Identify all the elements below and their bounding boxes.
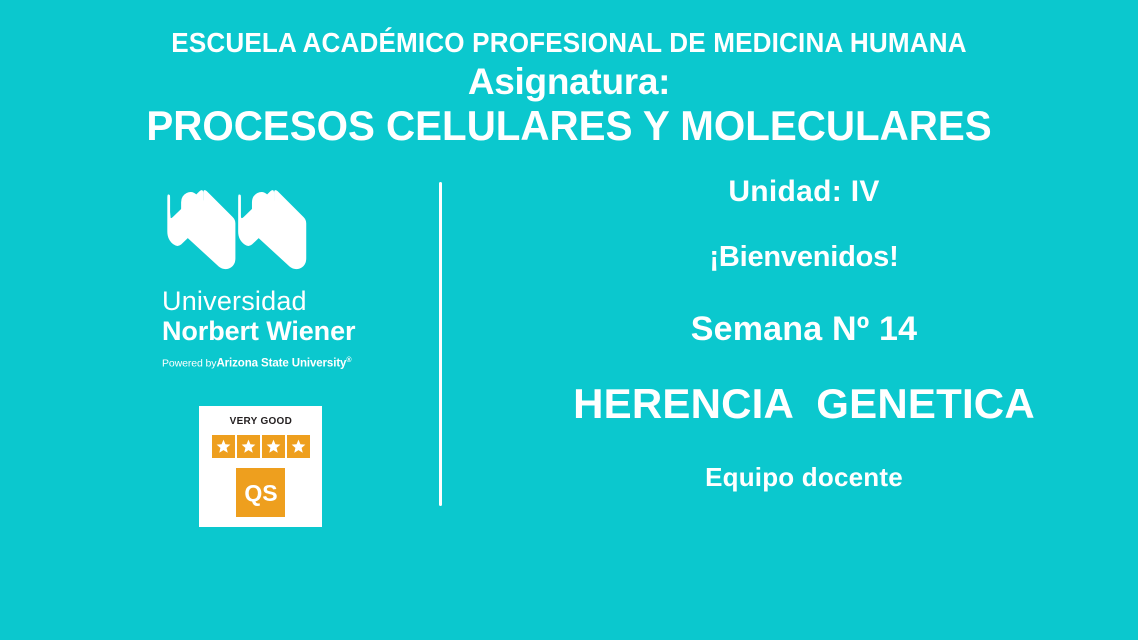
qs-logo-icon: QS: [236, 468, 285, 517]
powered-by-brand: Arizona State University: [216, 358, 346, 370]
powered-by-prefix: Powered by: [162, 358, 216, 370]
course-title: PROCESOS CELULARES Y MOLECULARES: [23, 103, 1115, 149]
university-name-line1: Universidad: [162, 286, 400, 316]
welcome-label: ¡Bienvenidos!: [470, 241, 1138, 274]
qs-rating-badge: VERY GOOD QS: [199, 406, 322, 527]
university-name-line2: Norbert Wiener: [162, 316, 400, 346]
vertical-divider: [439, 182, 442, 506]
qs-star-row: [212, 435, 310, 458]
wiener-w-mark-icon: [160, 182, 320, 274]
star-icon: [212, 435, 235, 458]
teaching-team-label: Equipo docente: [470, 462, 1138, 493]
unit-label: Unidad: IV: [470, 175, 1138, 209]
slide-header: ESCUELA ACADÉMICO PROFESIONAL DE MEDICIN…: [0, 28, 1138, 149]
school-name: ESCUELA ACADÉMICO PROFESIONAL DE MEDICIN…: [40, 28, 1098, 57]
subject-label: Asignatura:: [0, 60, 1138, 104]
topic-title: HERENCIA GENETICA: [470, 380, 1138, 428]
star-icon: [237, 435, 260, 458]
qs-rating-label: VERY GOOD: [229, 415, 291, 427]
registered-mark-icon: ®: [346, 357, 351, 364]
week-label: Semana Nº 14: [470, 310, 1138, 349]
right-panel: Unidad: IV ¡Bienvenidos! Semana Nº 14 HE…: [470, 175, 1138, 493]
slide-canvas: ESCUELA ACADÉMICO PROFESIONAL DE MEDICIN…: [0, 0, 1138, 640]
star-icon: [262, 435, 285, 458]
svg-text:QS: QS: [244, 480, 277, 506]
left-panel: Universidad Norbert Wiener Powered byAri…: [150, 182, 400, 370]
powered-by-line: Powered byArizona State University®: [162, 357, 400, 370]
star-icon: [287, 435, 310, 458]
university-name: Universidad Norbert Wiener: [162, 286, 400, 346]
